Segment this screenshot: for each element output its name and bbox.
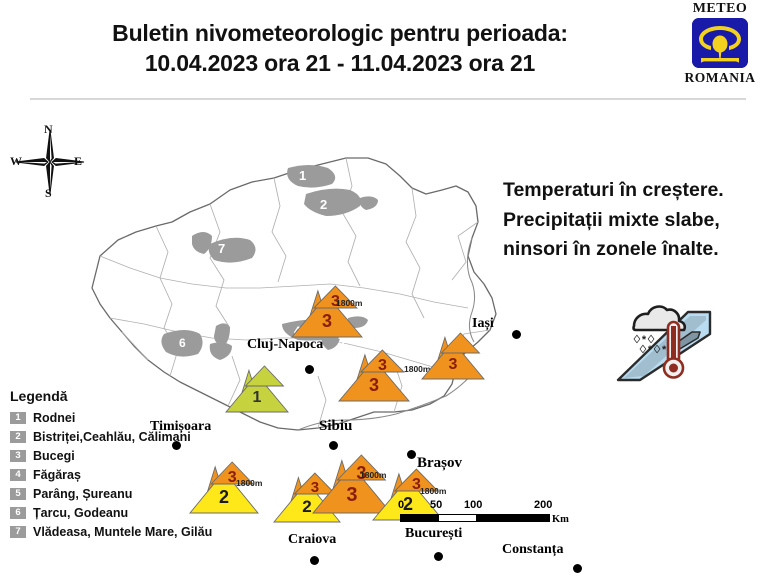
legend-item-label: Bistriței,Ceahlău, Călimani [33, 430, 191, 444]
legend-item-label: Făgăraș [33, 468, 81, 482]
city-dot [329, 441, 338, 450]
city-label: Constanța [502, 542, 563, 558]
scale-unit-label: Km [552, 514, 569, 525]
city-label: Cluj-Napoca [247, 337, 323, 353]
legend-title: Legendă [10, 388, 286, 404]
legend-item-index: 4 [10, 469, 26, 481]
scale-tick: 0 [398, 499, 404, 511]
city-label: Brașov [417, 455, 462, 472]
legend-item: 7Vlădeasa, Muntele Mare, Gilău [6, 523, 286, 541]
city-label: Sibiu [319, 418, 352, 435]
legend-item-label: Rodnei [33, 411, 75, 425]
legend-item-label: Parâng, Șureanu [33, 487, 132, 501]
city-dot [512, 330, 521, 339]
bulletin-page: Buletin nivometeorologic pentru perioada… [0, 0, 776, 534]
legend-item-index: 5 [10, 488, 26, 500]
legend-items: 1Rodnei2Bistriței,Ceahlău, Călimani3Buce… [6, 409, 286, 541]
legend-item-index: 3 [10, 450, 26, 462]
legend-item: 4Făgăraș [6, 466, 286, 484]
legend-item: 5Parâng, Șureanu [6, 485, 286, 503]
city-label: Craiova [288, 532, 336, 548]
altitude-label: 1800m [336, 298, 362, 308]
legend-item: 2Bistriței,Ceahlău, Călimani [6, 428, 286, 446]
scale-bar: 0 50 100 200 Km [400, 500, 570, 530]
marker-bistritei-ceahlau-calimani: 33 [339, 350, 409, 401]
legend: Legendă 1Rodnei2Bistriței,Ceahlău, Călim… [6, 388, 286, 542]
city-dot [407, 450, 416, 459]
legend-item: 3Bucegi [6, 447, 286, 465]
city-dot [305, 365, 314, 374]
legend-item-label: Vlădeasa, Muntele Mare, Gilău [33, 525, 212, 539]
city-dot [573, 564, 582, 573]
legend-item-label: Țarcu, Godeanu [33, 506, 128, 520]
legend-item: 6Țarcu, Godeanu [6, 504, 286, 522]
marker-rodnei: 33 [292, 286, 362, 337]
legend-item-label: Bucegi [33, 449, 75, 463]
scale-tick: 50 [430, 499, 442, 511]
scale-tick: 200 [534, 499, 552, 511]
legend-item-index: 2 [10, 431, 26, 443]
scale-tick: 100 [464, 499, 482, 511]
scale-bar-track [400, 514, 550, 522]
city-dot [434, 552, 443, 561]
altitude-label: 1800m [420, 486, 446, 496]
legend-item: 1Rodnei [6, 409, 286, 427]
marker-east-single: 3 [422, 333, 484, 379]
city-label: Iași [472, 316, 494, 332]
legend-item-index: 1 [10, 412, 26, 424]
legend-item-index: 7 [10, 526, 26, 538]
legend-item-index: 6 [10, 507, 26, 519]
city-dot [310, 556, 319, 565]
